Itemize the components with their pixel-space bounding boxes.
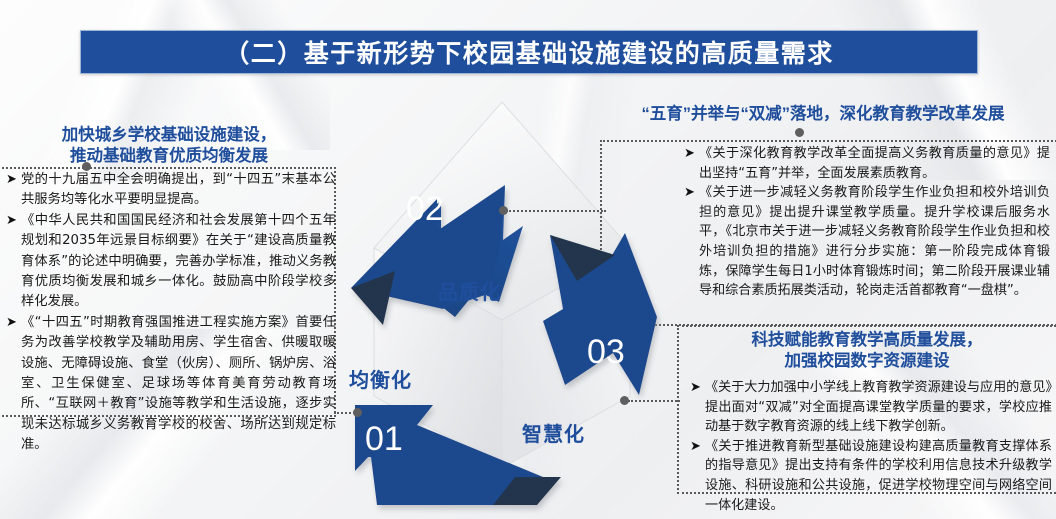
slide-canvas: （二）基于新形势下校园基础设施建设的高质量需求	[0, 0, 1056, 519]
bottom-right-block-heading: 科技赋能教育教学高质量发展， 加强校园数字资源建设	[678, 330, 1056, 372]
stage-label-02: 品质化	[438, 276, 501, 305]
list-item-text: 《关于深化教育教学改革全面提高义务教育质量的意见》提出坚持“五育”并举，全面发展…	[699, 144, 1050, 183]
arrow-step-02-number: 02	[406, 190, 444, 228]
bottom-right-block-body: ➤ 《关于大力加强中小学线上教育教学资源建设与应用的意见》提出面对“双减”对全面…	[690, 378, 1052, 515]
list-item: ➤ 《关于进一步减轻义务教育阶段学生作业负担和校外培训负担的意见》提出提升课堂教…	[684, 183, 1050, 301]
list-item-text: 《关于进一步减轻义务教育阶段学生作业负担和校外培训负担的意见》提出提升课堂教学质…	[699, 183, 1050, 301]
left-heading-line-1: 加快城乡学校基础设施建设，	[0, 125, 338, 146]
list-item-text: 《“十四五”时期教育强国推进工程实施方案》首要任务为改善学校教学及辅助用房、学生…	[21, 313, 336, 456]
bottom-right-heading-line-2: 加强校园数字资源建设	[678, 351, 1056, 372]
slide-title-bar: （二）基于新形势下校园基础设施建设的高质量需求	[80, 30, 978, 74]
list-item-text: 《关于推进教育新型基础设施建设构建高质量教育支撑体系的指导意见》提出支持有条件的…	[705, 437, 1052, 515]
list-item: ➤ 党的十九届五中全会明确提出，到“十四五”末基本公共服务均等化水平要明显提高。	[6, 170, 336, 211]
bullet-arrow-icon: ➤	[684, 144, 699, 164]
arrow-step-03-number: 03	[587, 333, 625, 371]
list-item: ➤ 《关于推进教育新型基础设施建设构建高质量教育支撑体系的指导意见》提出支持有条…	[690, 437, 1052, 515]
connector-dot-top-right	[795, 128, 804, 137]
list-item-text: 《中华人民共和国国民经济和社会发展第十四个五年规划和2035年远景目标纲要》在关…	[21, 211, 336, 313]
list-item: ➤ 《中华人民共和国国民经济和社会发展第十四个五年规划和2035年远景目标纲要》…	[6, 211, 336, 313]
stage-label-01: 均衡化	[349, 364, 412, 393]
list-item: ➤ 《“十四五”时期教育强国推进工程实施方案》首要任务为改善学校教学及辅助用房、…	[6, 313, 336, 456]
bullet-arrow-icon: ➤	[690, 378, 705, 398]
list-item: ➤ 《关于大力加强中小学线上教育教学资源建设与应用的意见》提出面对“双减”对全面…	[690, 378, 1052, 437]
arrow-step-01-number: 01	[365, 420, 403, 458]
list-item-text: 《关于大力加强中小学线上教育教学资源建设与应用的意见》提出面对“双减”对全面提高…	[705, 378, 1052, 437]
bottom-right-heading-line-1: 科技赋能教育教学高质量发展，	[678, 330, 1056, 351]
left-heading-line-2: 推动基础教育优质均衡发展	[0, 146, 338, 167]
bullet-arrow-icon: ➤	[6, 313, 21, 333]
bullet-arrow-icon: ➤	[684, 183, 699, 203]
connector-dot-step01	[353, 408, 362, 417]
left-block-body: ➤ 党的十九届五中全会明确提出，到“十四五”末基本公共服务均等化水平要明显提高。…	[6, 170, 336, 456]
bullet-arrow-icon: ➤	[6, 170, 21, 190]
top-right-block-heading: “五育”并举与“双减”落地，深化教育教学改革发展	[590, 104, 1056, 125]
list-item: ➤ 《关于深化教育教学改革全面提高义务教育质量的意见》提出坚持“五育”并举，全面…	[684, 144, 1050, 183]
connector-dot-step02	[499, 206, 508, 215]
cycle-arrows: 02 03 01	[325, 85, 715, 505]
bullet-arrow-icon: ➤	[690, 437, 705, 457]
left-block-heading: 加快城乡学校基础设施建设， 推动基础教育优质均衡发展	[0, 125, 338, 167]
stage-label-03: 智慧化	[522, 418, 585, 447]
list-item-text: 党的十九届五中全会明确提出，到“十四五”末基本公共服务均等化水平要明显提高。	[21, 170, 336, 211]
top-right-heading-line-1: “五育”并举与“双减”落地，深化教育教学改革发展	[590, 104, 1056, 125]
top-right-block-body: ➤ 《关于深化教育教学改革全面提高义务教育质量的意见》提出坚持“五育”并举，全面…	[684, 144, 1050, 301]
bullet-arrow-icon: ➤	[6, 211, 21, 231]
slide-title-text: （二）基于新形势下校园基础设施建设的高质量需求	[224, 34, 834, 70]
connector-dot-step03	[620, 396, 629, 405]
